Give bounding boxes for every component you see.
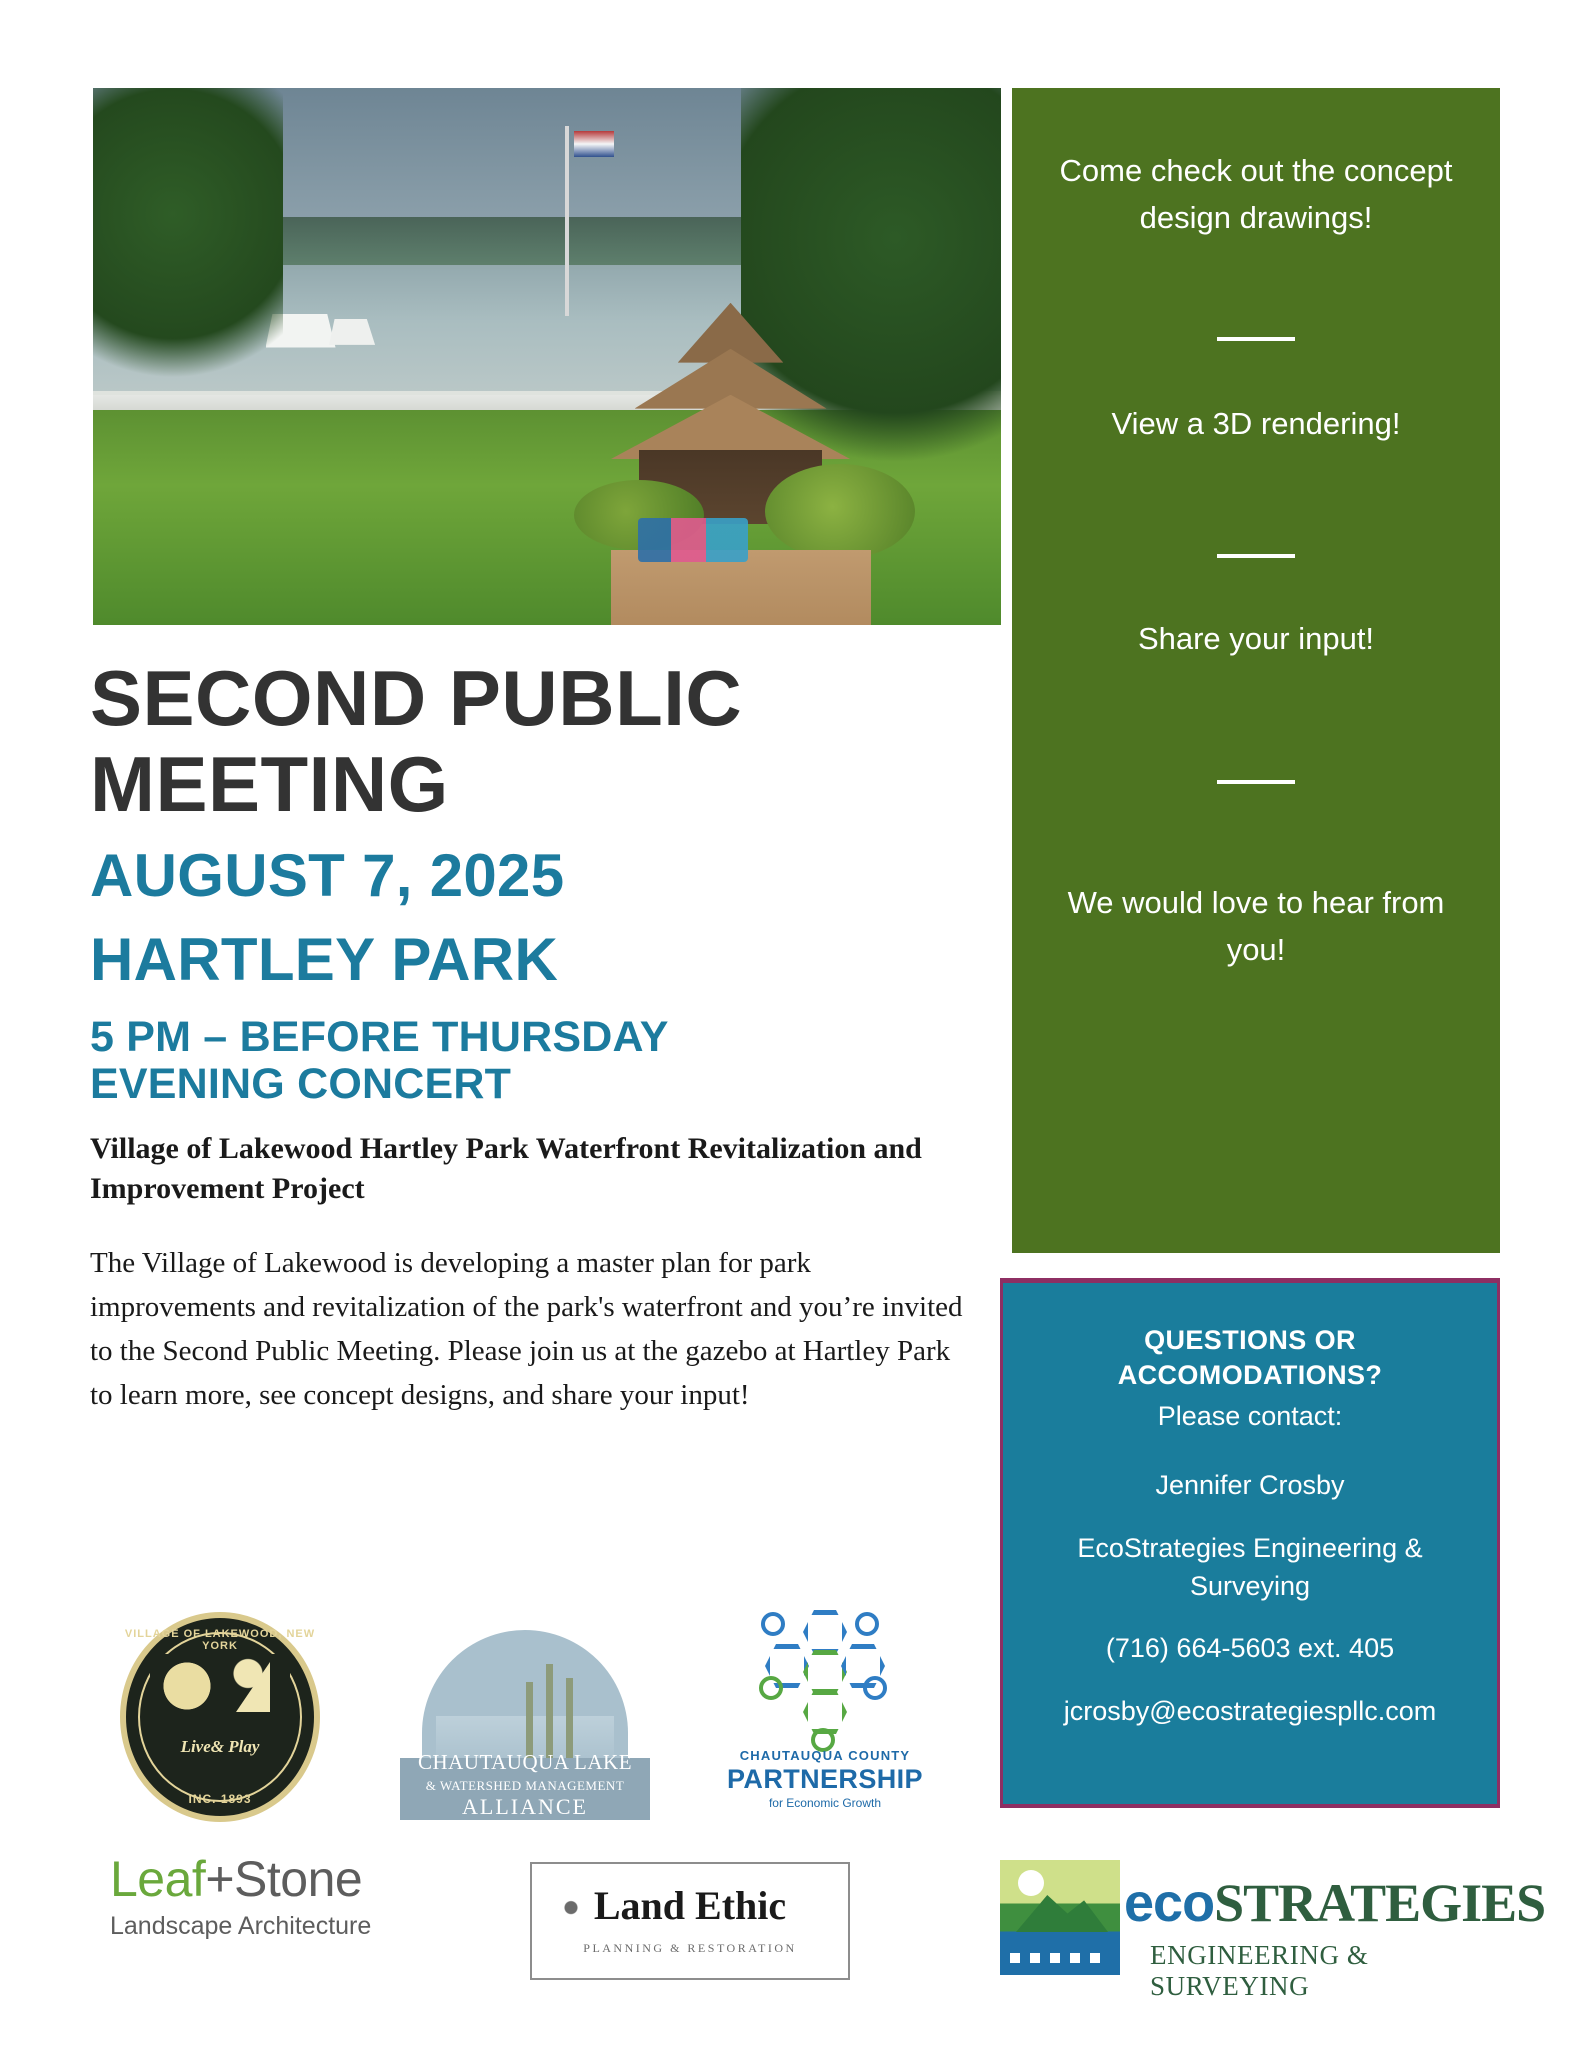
contact-phone[interactable]: (716) 664-5603 ext. 405 [1033,1629,1467,1667]
callout-line-3: Share your input! [1138,616,1374,663]
contact-email[interactable]: jcrosby@ecostrategiespllc.com [1033,1692,1467,1730]
hexagon-icon [803,1650,847,1694]
flyer-page: SECOND PUBLIC MEETING AUGUST 7, 2025 HAR… [0,0,1583,2048]
wave-icon [1010,1953,1110,1963]
node-dot-icon [863,1676,887,1700]
contact-subheading: Please contact: [1033,1401,1467,1432]
eco-word: eco [1124,1873,1214,1933]
cla-line2: & WATERSHED MANAGEMENT [400,1778,650,1794]
node-dot-icon [761,1612,785,1636]
tree-icon [160,1658,214,1714]
node-dot-icon [855,1612,879,1636]
callout-line-4: We would love to hear from you! [1048,880,1464,973]
seal-bottom-text: INC. 1893 [120,1792,320,1806]
divider-rule [1217,780,1295,784]
ecostrategies-logo: ecoSTRATEGIES ENGINEERING & SURVEYING [1000,1860,1510,1990]
village-of-lakewood-seal-logo: VILLAGE OF LAKEWOOD, NEW YORK Live& Play… [120,1612,320,1822]
cla-line1: CHAUTAUQUA LAKE [400,1750,650,1775]
divider-rule [1217,554,1295,558]
seal-top-text: VILLAGE OF LAKEWOOD, NEW YORK [120,1628,320,1652]
body-paragraph: The Village of Lakewood is developing a … [90,1241,970,1417]
bicycles-icon [638,518,748,562]
land-ethic-tagline: PLANNING & RESTORATION [532,1941,848,1956]
leaf-icon [556,1894,586,1928]
eco-wordmark: ecoSTRATEGIES [1124,1872,1545,1934]
cattail-icon [546,1664,553,1764]
flag-icon [574,131,614,157]
strategies-word: STRATEGIES [1214,1873,1545,1933]
leaf-and-stone-logo: Leaf+Stone Landscape Architecture [110,1850,450,1970]
leaf-word: Leaf [110,1851,205,1907]
headline-block: SECOND PUBLIC MEETING AUGUST 7, 2025 HAR… [90,660,990,1417]
eco-tagline: ENGINEERING & SURVEYING [1150,1940,1510,2002]
hero-photo [93,88,1001,625]
ccp-line1: CHAUTAUQUA COUNTY [715,1748,935,1763]
callout-line-1: Come check out the concept design drawin… [1048,148,1464,241]
green-callout-panel: Come check out the concept design drawin… [1012,88,1500,1253]
plus-sign: + [205,1851,234,1907]
project-title: Village of Lakewood Hartley Park Waterfr… [90,1129,990,1208]
sun-icon [1018,1870,1044,1896]
page-title-line1: SECOND PUBLIC [90,660,990,736]
divider-rule [1217,337,1295,341]
cla-line3: ALLIANCE [400,1794,650,1820]
contact-heading-line2: ACCOMODATIONS? [1033,1358,1467,1393]
event-time-line1: 5 PM – BEFORE THURSDAY [90,1014,990,1060]
chautauqua-county-partnership-logo: CHAUTAUQUA COUNTY PARTNERSHIP for Econom… [715,1600,935,1830]
event-date: AUGUST 7, 2025 [90,845,990,907]
ccp-line2: PARTNERSHIP [715,1764,935,1795]
callout-line-2: View a 3D rendering! [1112,401,1401,448]
stone-word: Stone [234,1851,362,1907]
contact-heading-line1: QUESTIONS OR [1033,1323,1467,1358]
page-title-line2: MEETING [90,746,990,822]
hexagon-icon [803,1610,847,1654]
chautauqua-lake-alliance-logo: CHAUTAUQUA LAKE & WATERSHED MANAGEMENT A… [400,1630,650,1820]
seal-mid-text: Live& Play [120,1738,320,1756]
ccp-line3: for Economic Growth [715,1796,935,1810]
flagpole-icon [565,126,569,316]
contact-name: Jennifer Crosby [1033,1466,1467,1504]
event-location: HARTLEY PARK [90,929,990,991]
leaf-stone-name: Leaf+Stone [110,1850,450,1908]
eco-logo-mark [1000,1860,1120,1975]
tree-icon [93,88,283,412]
leaf-stone-tagline: Landscape Architecture [110,1912,450,1941]
contact-box: QUESTIONS OR ACCOMODATIONS? Please conta… [1000,1278,1500,1808]
hexagon-network-icon [755,1610,885,1740]
partner-logos: VILLAGE OF LAKEWOOD, NEW YORK Live& Play… [100,1600,980,2010]
node-dot-icon [759,1676,783,1700]
land-ethic-logo: Land Ethic PLANNING & RESTORATION [530,1862,850,1980]
contact-company: EcoStrategies Engineering & Surveying [1033,1529,1467,1606]
shrub-icon [765,464,915,559]
event-time-line2: EVENING CONCERT [90,1061,990,1107]
